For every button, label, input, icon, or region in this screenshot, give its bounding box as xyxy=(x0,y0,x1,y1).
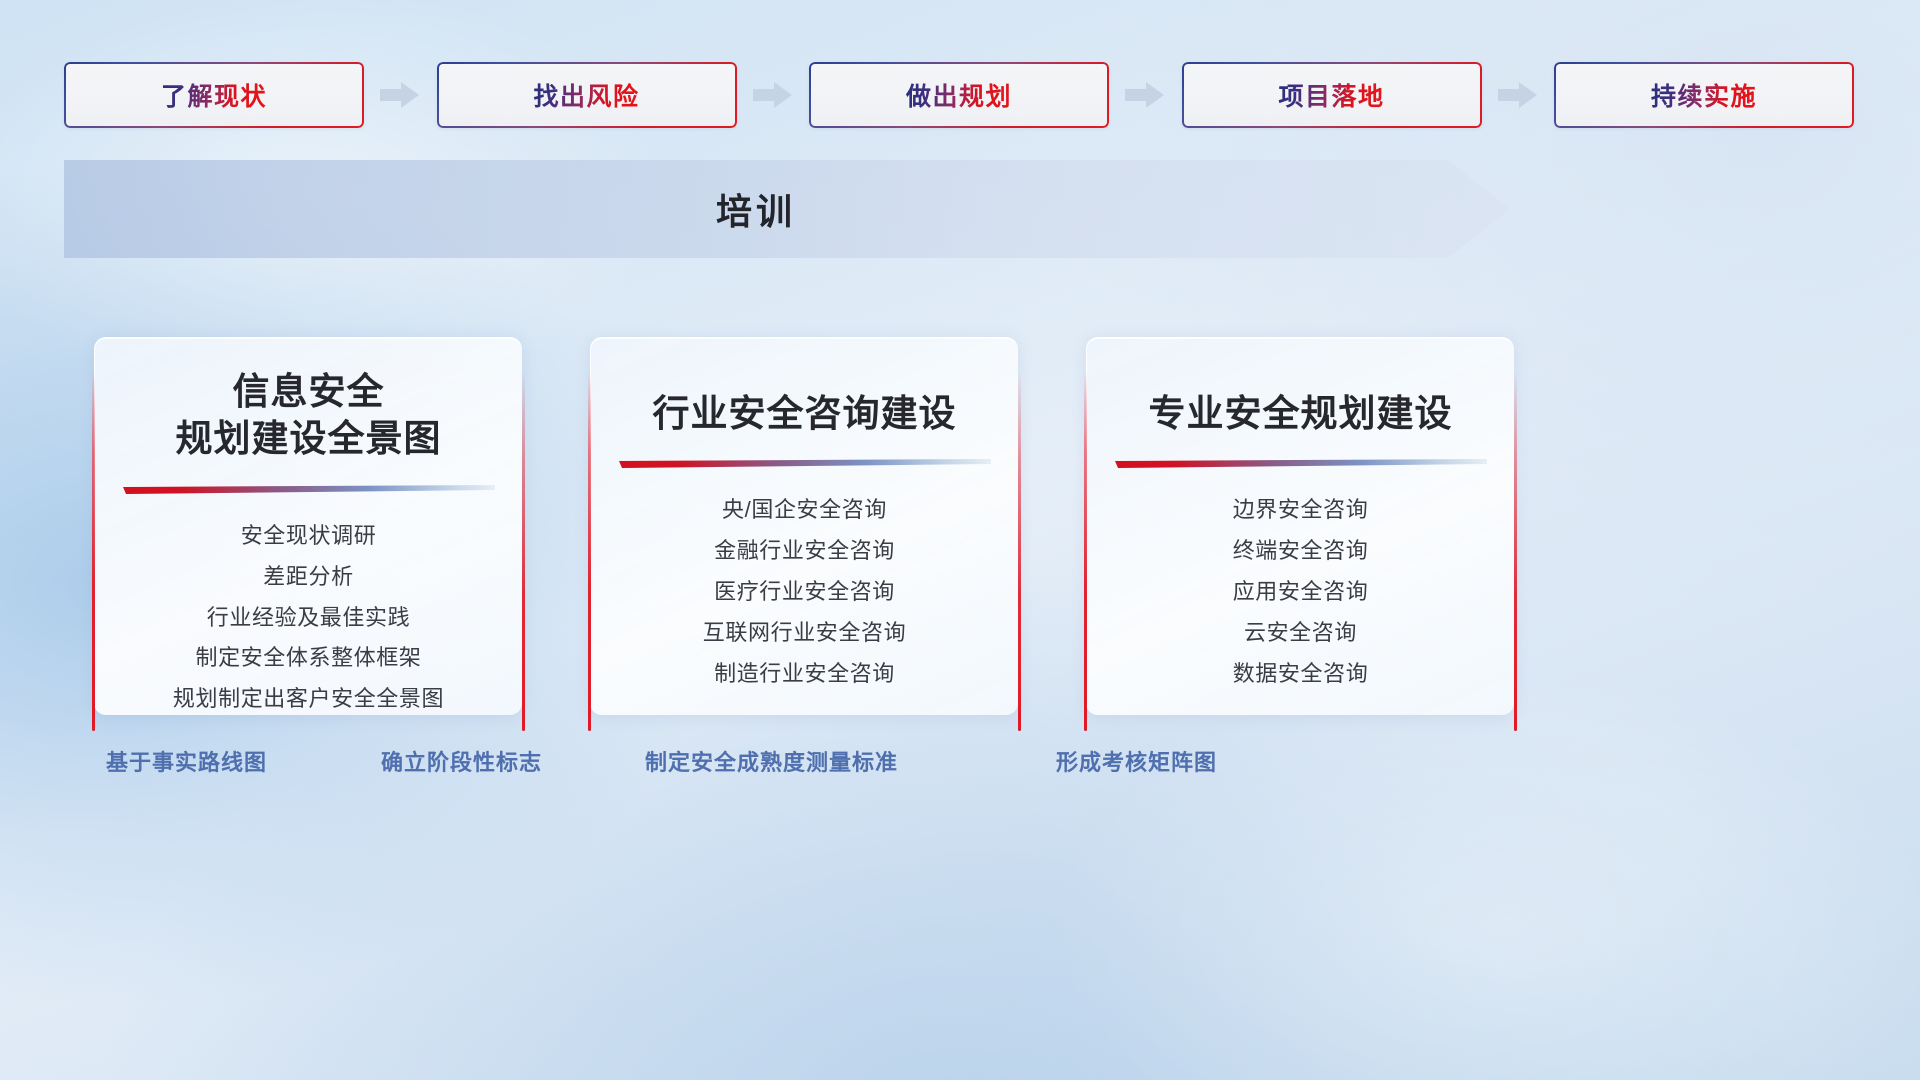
process-step-4[interactable]: 项目落地 xyxy=(1182,62,1482,128)
arrow-right-icon xyxy=(737,80,810,110)
card-list-item: 规划制定出客户安全全景图 xyxy=(173,683,444,715)
arrow-right-icon xyxy=(1109,80,1182,110)
process-step-3[interactable]: 做出规划 xyxy=(809,62,1109,128)
arrow-right-icon xyxy=(364,80,437,110)
training-banner: 培训 xyxy=(64,160,1510,258)
gradient-divider-icon xyxy=(1115,459,1487,468)
card-list-item: 制造行业安全咨询 xyxy=(714,658,895,690)
banner-title: 培训 xyxy=(64,160,1510,258)
card-title: 专业安全规划建设 xyxy=(1087,390,1514,437)
process-step-label: 了解现状 xyxy=(161,77,267,113)
slide-canvas: 了解现状找出风险做出规划项目落地持续实施 培训 信息安全 规划建设全景图安全现状… xyxy=(0,0,1920,1080)
footer-label-2: 确立阶段性标志 xyxy=(381,745,542,777)
card-list-item: 云安全咨询 xyxy=(1244,617,1357,649)
card-list-item: 央/国企安全咨询 xyxy=(722,494,887,526)
process-step-2[interactable]: 找出风险 xyxy=(437,62,737,128)
card-list-item: 数据安全咨询 xyxy=(1233,658,1369,690)
card-list-item: 安全现状调研 xyxy=(241,520,377,552)
card-list-item: 互联网行业安全咨询 xyxy=(703,617,906,649)
footer-label-row: 基于事实路线图确立阶段性标志制定安全成熟度测量标准形成考核矩阵图 xyxy=(0,745,1920,791)
card-item-list: 安全现状调研差距分析行业经验及最佳实践制定安全体系整体框架规划制定出客户安全全景… xyxy=(95,520,522,715)
card-list-item: 金融行业安全咨询 xyxy=(714,535,895,567)
process-step-label: 做出规划 xyxy=(906,77,1012,113)
process-step-label: 项目落地 xyxy=(1278,77,1384,113)
card-list-item: 应用安全咨询 xyxy=(1233,576,1369,608)
process-step-label: 持续实施 xyxy=(1651,77,1757,113)
card-row: 信息安全 规划建设全景图安全现状调研差距分析行业经验及最佳实践制定安全体系整体框… xyxy=(94,337,1514,715)
footer-label-1: 基于事实路线图 xyxy=(106,745,267,777)
process-step-1[interactable]: 了解现状 xyxy=(64,62,364,128)
card-list-item: 行业经验及最佳实践 xyxy=(207,602,410,634)
process-step-row: 了解现状找出风险做出规划项目落地持续实施 xyxy=(64,62,1854,128)
card-list-item: 差距分析 xyxy=(263,561,353,593)
process-step-label: 找出风险 xyxy=(533,77,639,113)
service-card-3[interactable]: 专业安全规划建设边界安全咨询终端安全咨询应用安全咨询云安全咨询数据安全咨询 xyxy=(1086,337,1514,715)
arrow-right-icon xyxy=(1482,80,1555,110)
gradient-divider-icon xyxy=(619,459,991,468)
card-item-list: 央/国企安全咨询金融行业安全咨询医疗行业安全咨询互联网行业安全咨询制造行业安全咨… xyxy=(591,494,1018,689)
card-list-item: 边界安全咨询 xyxy=(1233,494,1369,526)
card-list-item: 医疗行业安全咨询 xyxy=(714,576,895,608)
footer-label-4: 形成考核矩阵图 xyxy=(1056,745,1217,777)
gradient-divider-icon xyxy=(123,485,495,494)
card-title: 信息安全 规划建设全景图 xyxy=(95,368,522,463)
card-title: 行业安全咨询建设 xyxy=(591,390,1018,437)
card-list-item: 制定安全体系整体框架 xyxy=(195,642,421,674)
card-item-list: 边界安全咨询终端安全咨询应用安全咨询云安全咨询数据安全咨询 xyxy=(1087,494,1514,689)
card-list-item: 终端安全咨询 xyxy=(1233,535,1369,567)
service-card-2[interactable]: 行业安全咨询建设央/国企安全咨询金融行业安全咨询医疗行业安全咨询互联网行业安全咨… xyxy=(590,337,1018,715)
service-card-1[interactable]: 信息安全 规划建设全景图安全现状调研差距分析行业经验及最佳实践制定安全体系整体框… xyxy=(94,337,522,715)
footer-label-3: 制定安全成熟度测量标准 xyxy=(645,745,898,777)
process-step-5[interactable]: 持续实施 xyxy=(1554,62,1854,128)
